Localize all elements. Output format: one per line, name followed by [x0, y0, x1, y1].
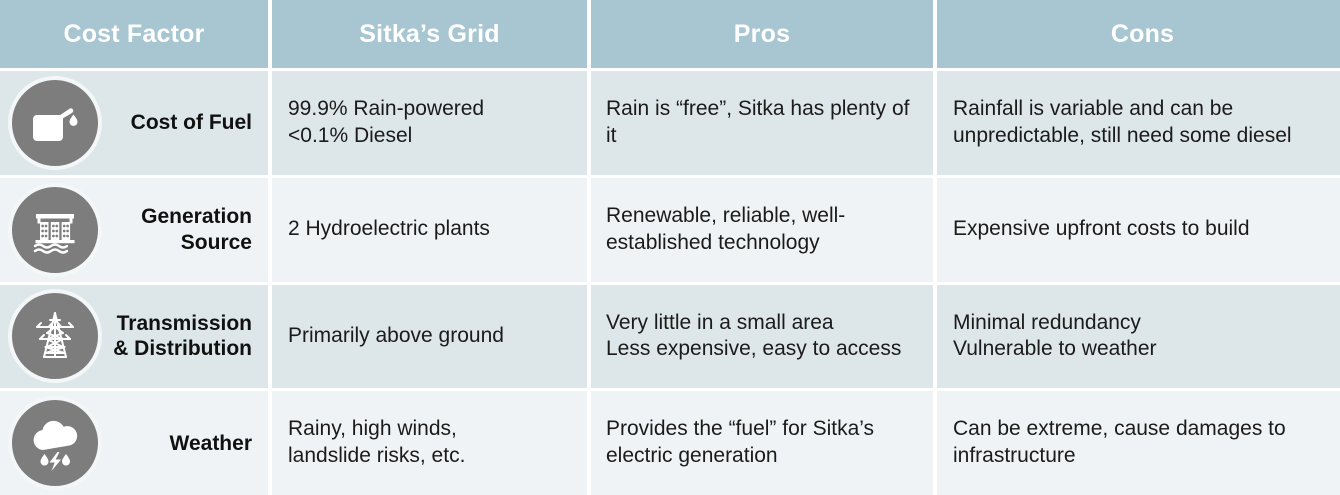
- table-header-row: Cost Factor Sitka’s Grid Pros Cons: [0, 0, 1340, 68]
- table-row: Cost of Fuel 99.9% Rain-powered <0.1% Di…: [0, 71, 1340, 175]
- cell-cost-factor: Generation Source: [0, 178, 268, 282]
- cell-cost-factor: Transmission & Distribution: [0, 285, 268, 389]
- column-header-sitkas-grid: Sitka’s Grid: [272, 0, 587, 68]
- cost-factor-label: Generation Source: [102, 204, 256, 254]
- cell-cons: Rainfall is variable and can be unpredic…: [937, 71, 1340, 175]
- table-row: Generation Source 2 Hydroelectric plants…: [0, 178, 1340, 282]
- storm-cloud-icon: [8, 396, 102, 490]
- column-header-label: Cost Factor: [63, 20, 204, 49]
- hydro-dam-icon: [8, 183, 102, 277]
- cell-cost-factor: Weather: [0, 391, 268, 495]
- cell-cost-factor: Cost of Fuel: [0, 71, 268, 175]
- column-header-label: Pros: [734, 20, 790, 49]
- cell-cons: Expensive upfront costs to build: [937, 178, 1340, 282]
- cell-cons: Can be extreme, cause damages to infrast…: [937, 391, 1340, 495]
- fuel-can-icon: [8, 76, 102, 170]
- cell-sitkas-grid: 99.9% Rain-powered <0.1% Diesel: [272, 71, 587, 175]
- cell-sitkas-grid: 2 Hydroelectric plants: [272, 178, 587, 282]
- transmission-tower-icon: [8, 289, 102, 383]
- cost-factor-label: Transmission & Distribution: [102, 311, 256, 361]
- column-header-label: Sitka’s Grid: [359, 20, 499, 49]
- column-header-cons: Cons: [937, 0, 1340, 68]
- cost-factor-label: Cost of Fuel: [102, 110, 256, 135]
- column-header-label: Cons: [1111, 20, 1174, 49]
- column-header-cost-factor: Cost Factor: [0, 0, 268, 68]
- comparison-table: Cost Factor Sitka’s Grid Pros Cons: [0, 0, 1340, 495]
- cost-factor-label: Weather: [102, 431, 256, 456]
- cell-pros: Very little in a small area Less expensi…: [591, 285, 933, 389]
- cell-pros: Rain is “free”, Sitka has plenty of it: [591, 71, 933, 175]
- column-header-pros: Pros: [591, 0, 933, 68]
- cell-pros: Provides the “fuel” for Sitka’s electric…: [591, 391, 933, 495]
- table-row: Weather Rainy, high winds, landslide ris…: [0, 391, 1340, 495]
- cell-pros: Renewable, reliable, well-established te…: [591, 178, 933, 282]
- table-row: Transmission & Distribution Primarily ab…: [0, 285, 1340, 389]
- cell-cons: Minimal redundancy Vulnerable to weather: [937, 285, 1340, 389]
- cell-sitkas-grid: Primarily above ground: [272, 285, 587, 389]
- cell-sitkas-grid: Rainy, high winds, landslide risks, etc.: [272, 391, 587, 495]
